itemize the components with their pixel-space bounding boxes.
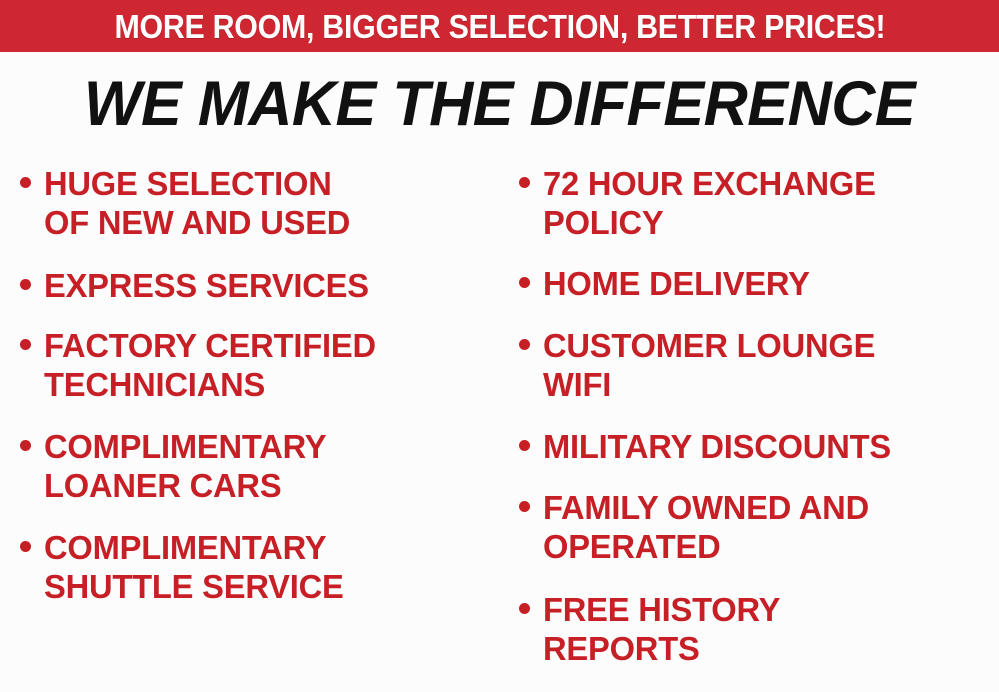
list-item: COMPLIMENTARY LOANER CARS: [20, 427, 329, 505]
bullet-dot-icon: [519, 501, 530, 512]
list-item-label: COMPLIMENTARY LOANER CARS: [44, 427, 326, 505]
bullet-dot-icon: [20, 440, 31, 451]
bullet-dot-icon: [20, 339, 31, 350]
features-column-left: HUGE SELECTION OF NEW AND USED EXPRESS S…: [8, 150, 500, 692]
list-item-label: HUGE SELECTION OF NEW AND USED: [44, 164, 350, 242]
bullet-dot-icon: [519, 603, 530, 614]
list-item-label: FREE HISTORY REPORTS: [543, 590, 780, 668]
bullet-dot-icon: [519, 277, 530, 288]
list-item: CUSTOMER LOUNGE WIFI: [519, 326, 879, 404]
list-item: MILITARY DISCOUNTS: [519, 427, 894, 466]
bullet-dot-icon: [519, 177, 530, 188]
list-item: 72 HOUR EXCHANGE POLICY: [519, 164, 879, 242]
list-item-label: CUSTOMER LOUNGE WIFI: [543, 326, 875, 404]
features-columns: HUGE SELECTION OF NEW AND USED EXPRESS S…: [0, 150, 999, 692]
top-banner-text: MORE ROOM, BIGGER SELECTION, BETTER PRIC…: [114, 10, 885, 43]
list-item: EXPRESS SERVICES: [20, 266, 372, 305]
list-item: COMPLIMENTARY SHUTTLE SERVICE: [20, 528, 347, 606]
list-item-label: COMPLIMENTARY SHUTTLE SERVICE: [44, 528, 344, 606]
list-item-label: HOME DELIVERY: [543, 264, 810, 303]
list-item: HUGE SELECTION OF NEW AND USED: [20, 164, 353, 242]
features-column-right: 72 HOUR EXCHANGE POLICY HOME DELIVERY CU…: [505, 150, 999, 692]
list-item-label: 72 HOUR EXCHANGE POLICY: [543, 164, 876, 242]
page-title: WE MAKE THE DIFFERENCE: [84, 73, 915, 136]
promo-poster: MORE ROOM, BIGGER SELECTION, BETTER PRIC…: [0, 0, 999, 692]
list-item-label: MILITARY DISCOUNTS: [543, 427, 891, 466]
top-banner: MORE ROOM, BIGGER SELECTION, BETTER PRIC…: [0, 0, 999, 52]
list-item: HOME DELIVERY: [519, 264, 812, 303]
list-item-label: FACTORY CERTIFIED TECHNICIANS: [44, 326, 376, 404]
bullet-dot-icon: [519, 339, 530, 350]
list-item: FACTORY CERTIFIED TECHNICIANS: [20, 326, 379, 404]
bullet-dot-icon: [20, 279, 31, 290]
list-item: FREE HISTORY REPORTS: [519, 590, 783, 668]
bullet-dot-icon: [519, 440, 530, 451]
bullet-dot-icon: [20, 177, 31, 188]
list-item-label: EXPRESS SERVICES: [44, 266, 369, 305]
list-item-label: FAMILY OWNED AND OPERATED: [543, 488, 869, 566]
list-item: FAMILY OWNED AND OPERATED: [519, 488, 872, 566]
bullet-dot-icon: [20, 541, 31, 552]
headline-container: WE MAKE THE DIFFERENCE: [0, 64, 999, 144]
